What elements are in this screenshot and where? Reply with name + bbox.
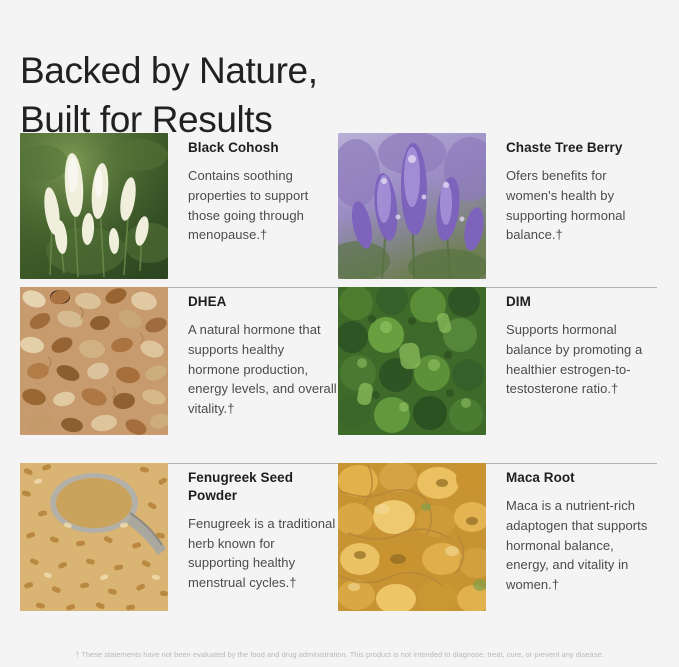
ingredient-card-chaste-tree-berry: Chaste Tree Berry Ofers benefits for wom… xyxy=(338,133,656,279)
mixed-nuts-photo xyxy=(20,287,168,435)
ingredient-title: Black Cohosh xyxy=(188,139,338,157)
ingredient-title: DIM xyxy=(506,293,656,311)
ingredient-description: Contains soothing properties to support … xyxy=(188,166,338,246)
ingredient-card-maca-root: Maca Root Maca is a nutrient-rich adapto… xyxy=(338,463,656,611)
ingredient-card-dhea: DHEA A natural hormone that supports hea… xyxy=(20,287,338,435)
ingredient-title: DHEA xyxy=(188,293,338,311)
fenugreek-seeds-photo xyxy=(20,463,168,611)
ingredient-text: Chaste Tree Berry Ofers benefits for wom… xyxy=(486,133,656,245)
chaste-tree-berry-photo xyxy=(338,133,486,279)
ingredient-text: Black Cohosh Contains soothing propertie… xyxy=(168,133,338,245)
page-title: Backed by Nature, Built for Results xyxy=(20,47,620,145)
broccoli-photo xyxy=(338,287,486,435)
ingredient-row: DHEA A natural hormone that supports hea… xyxy=(0,287,679,463)
ingredient-title: Maca Root xyxy=(506,469,656,487)
black-cohosh-photo xyxy=(20,133,168,279)
page-title-line-1: Backed by Nature, xyxy=(20,47,620,96)
ingredient-text: DHEA A natural hormone that supports hea… xyxy=(168,287,338,419)
ingredient-description: Maca is a nutrient-rich adaptogen that s… xyxy=(506,496,656,595)
ingredient-title: Chaste Tree Berry xyxy=(506,139,656,157)
ingredient-text: Fenugreek Seed Powder Fenugreek is a tra… xyxy=(168,463,338,593)
maca-root-photo xyxy=(338,463,486,611)
ingredient-description: A natural hormone that supports healthy … xyxy=(188,320,338,419)
ingredient-description: Supports hormonal balance by promoting a… xyxy=(506,320,656,400)
ingredient-card-dim: DIM Supports hormonal balance by promoti… xyxy=(338,287,656,435)
ingredient-card-fenugreek-seed-powder: Fenugreek Seed Powder Fenugreek is a tra… xyxy=(20,463,338,611)
ingredient-description: Fenugreek is a traditional herb known fo… xyxy=(188,514,338,594)
ingredient-title: Fenugreek Seed Powder xyxy=(188,469,338,505)
ingredient-row: Black Cohosh Contains soothing propertie… xyxy=(0,133,679,287)
ingredient-text: DIM Supports hormonal balance by promoti… xyxy=(486,287,656,399)
footer-disclaimer: † These statements have not been evaluat… xyxy=(0,650,679,660)
ingredient-description: Ofers benefits for women's health by sup… xyxy=(506,166,656,246)
ingredient-grid: Black Cohosh Contains soothing propertie… xyxy=(0,133,679,641)
ingredient-text: Maca Root Maca is a nutrient-rich adapto… xyxy=(486,463,656,595)
ingredient-row: Fenugreek Seed Powder Fenugreek is a tra… xyxy=(0,463,679,641)
ingredient-card-black-cohosh: Black Cohosh Contains soothing propertie… xyxy=(20,133,338,279)
ingredients-page: Backed by Nature, Built for Results xyxy=(0,0,679,667)
